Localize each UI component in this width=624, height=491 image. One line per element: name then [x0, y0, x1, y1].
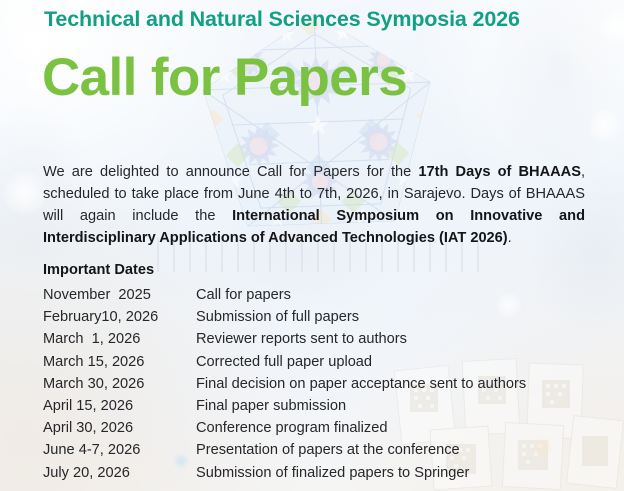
page-title: Call for Papers	[42, 50, 407, 106]
date-cell: March 30, 2026	[43, 373, 196, 395]
table-row: June 4-7, 2026Presentation of papers at …	[43, 439, 603, 461]
date-cell: April 30, 2026	[43, 417, 196, 439]
date-cell: March 15, 2026	[43, 351, 196, 373]
table-row: March 1, 2026Reviewer reports sent to au…	[43, 328, 603, 350]
event-cell: Submission of finalized papers to Spring…	[196, 462, 603, 484]
intro-paragraph: We are delighted to announce Call for Pa…	[43, 161, 585, 250]
table-row: April 15, 2026Final paper submission	[43, 395, 603, 417]
event-cell: Reviewer reports sent to authors	[196, 328, 603, 350]
intro-bold-1: 17th Days of BHAAAS	[418, 164, 581, 180]
table-row: November 2025Call for papers	[43, 284, 603, 306]
event-cell: Call for papers	[196, 284, 603, 306]
call-for-papers-poster: Technical and Natural Sciences Symposia …	[0, 0, 624, 491]
date-cell: March 1, 2026	[43, 328, 196, 350]
event-cell: Submission of full papers	[196, 306, 603, 328]
intro-segment-1: We are delighted to announce Call for Pa…	[43, 164, 418, 180]
event-cell: Presentation of papers at the conference	[196, 439, 603, 461]
date-cell: July 20, 2026	[43, 462, 196, 484]
poster-kicker: Technical and Natural Sciences Symposia …	[44, 7, 520, 32]
important-dates-body: November 2025Call for papersFebruary10, …	[43, 284, 603, 484]
important-dates-table: November 2025Call for papersFebruary10, …	[43, 284, 603, 484]
event-cell: Corrected full paper upload	[196, 351, 603, 373]
date-cell: June 4-7, 2026	[43, 439, 196, 461]
table-row: July 20, 2026Submission of finalized pap…	[43, 462, 603, 484]
event-cell: Conference program finalized	[196, 417, 603, 439]
poster-content: Technical and Natural Sciences Symposia …	[0, 0, 624, 491]
event-cell: Final paper submission	[196, 395, 603, 417]
date-cell: November 2025	[43, 284, 196, 306]
date-cell: February10, 2026	[43, 306, 196, 328]
table-row: April 30, 2026Conference program finaliz…	[43, 417, 603, 439]
table-row: February10, 2026Submission of full paper…	[43, 306, 603, 328]
date-cell: April 15, 2026	[43, 395, 196, 417]
table-row: March 15, 2026Corrected full paper uploa…	[43, 351, 603, 373]
event-cell: Final decision on paper acceptance sent …	[196, 373, 603, 395]
table-row: March 30, 2026Final decision on paper ac…	[43, 373, 603, 395]
important-dates-heading: Important Dates	[43, 262, 154, 278]
intro-segment-3: .	[508, 230, 512, 246]
